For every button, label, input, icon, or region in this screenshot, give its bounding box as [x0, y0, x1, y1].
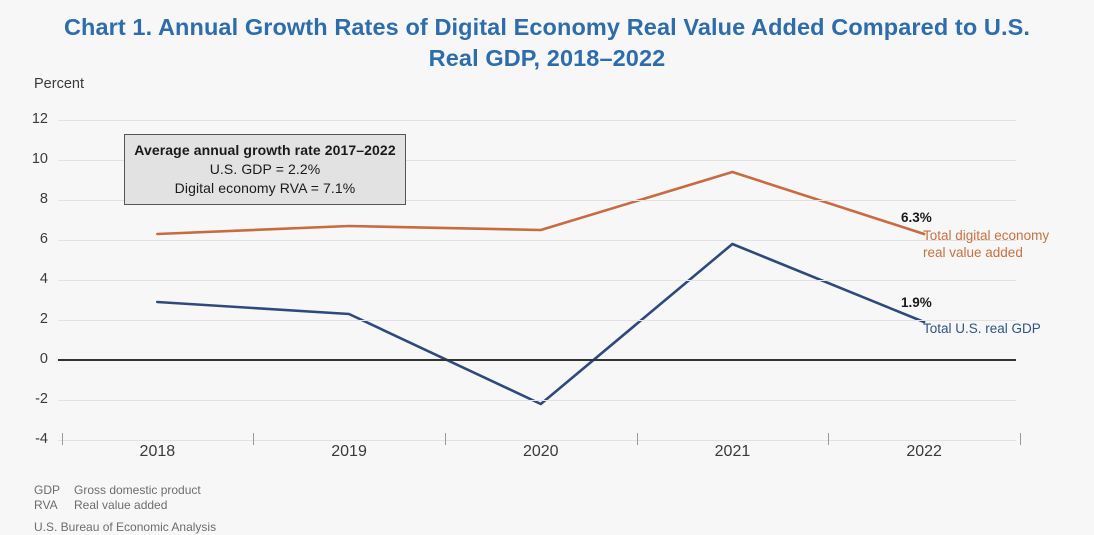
chart-figure: Chart 1. Annual Growth Rates of Digital …: [0, 0, 1094, 530]
gridline: [58, 240, 1016, 241]
blue-end-value: 1.9%: [901, 295, 932, 310]
y-axis-tick-label: 10: [14, 151, 48, 167]
x-axis-tick: [828, 433, 829, 445]
x-axis-tick: [62, 433, 63, 445]
orange-end-value: 6.3%: [901, 210, 932, 225]
zero-axis-line: [58, 359, 1016, 361]
gridline: [58, 320, 1016, 321]
y-axis-tick-label: 8: [14, 191, 48, 207]
blue-series-label: Total U.S. real GDP: [923, 321, 1041, 338]
plot-area: 121086420-2-420182019202020212022: [0, 0, 1094, 530]
x-axis-year-label: 2021: [672, 443, 792, 461]
orange-series-label-line-1: Total digital economy: [923, 228, 1049, 245]
orange-series-label-line-2: real value added: [923, 245, 1049, 262]
x-axis-year-label: 2020: [481, 443, 601, 461]
y-axis-tick-label: -2: [14, 391, 48, 407]
y-axis-tick-label: 6: [14, 231, 48, 247]
gridline: [58, 280, 1016, 281]
gridline: [58, 440, 1016, 441]
annotation-heading: Average annual growth rate 2017–2022: [131, 142, 399, 158]
footnote-rva-abbr: RVA: [34, 498, 74, 513]
footnote-source: U.S. Bureau of Economic Analysis: [34, 520, 216, 535]
x-axis-tick: [253, 433, 254, 445]
x-axis-tick: [1020, 433, 1021, 445]
series-line: [157, 244, 924, 404]
x-axis-year-label: 2019: [289, 443, 409, 461]
average-growth-annotation-box: Average annual growth rate 2017–2022 U.S…: [124, 134, 406, 205]
gridline: [58, 400, 1016, 401]
footnote-gdp-abbr: GDP: [34, 483, 74, 498]
x-axis-year-label: 2018: [97, 443, 217, 461]
x-axis-tick: [637, 433, 638, 445]
annotation-digital-rva: Digital economy RVA = 7.1%: [131, 180, 399, 196]
footnotes: GDP Gross domestic product RVA Real valu…: [34, 483, 216, 535]
x-axis-tick: [445, 433, 446, 445]
x-axis-year-label: 2022: [864, 443, 984, 461]
footnote-rva-text: Real value added: [74, 498, 167, 513]
orange-series-label: Total digital economy real value added: [923, 228, 1049, 261]
footnote-gdp-text: Gross domestic product: [74, 483, 201, 498]
footnote-gdp: GDP Gross domestic product: [34, 483, 216, 498]
gridline: [58, 120, 1016, 121]
y-axis-tick-label: 12: [14, 111, 48, 127]
y-axis-tick-label: 2: [14, 311, 48, 327]
y-axis-tick-label: -4: [14, 431, 48, 447]
footnote-rva: RVA Real value added: [34, 498, 216, 513]
y-axis-tick-label: 0: [14, 351, 48, 367]
annotation-us-gdp: U.S. GDP = 2.2%: [131, 161, 399, 177]
y-axis-tick-label: 4: [14, 271, 48, 287]
